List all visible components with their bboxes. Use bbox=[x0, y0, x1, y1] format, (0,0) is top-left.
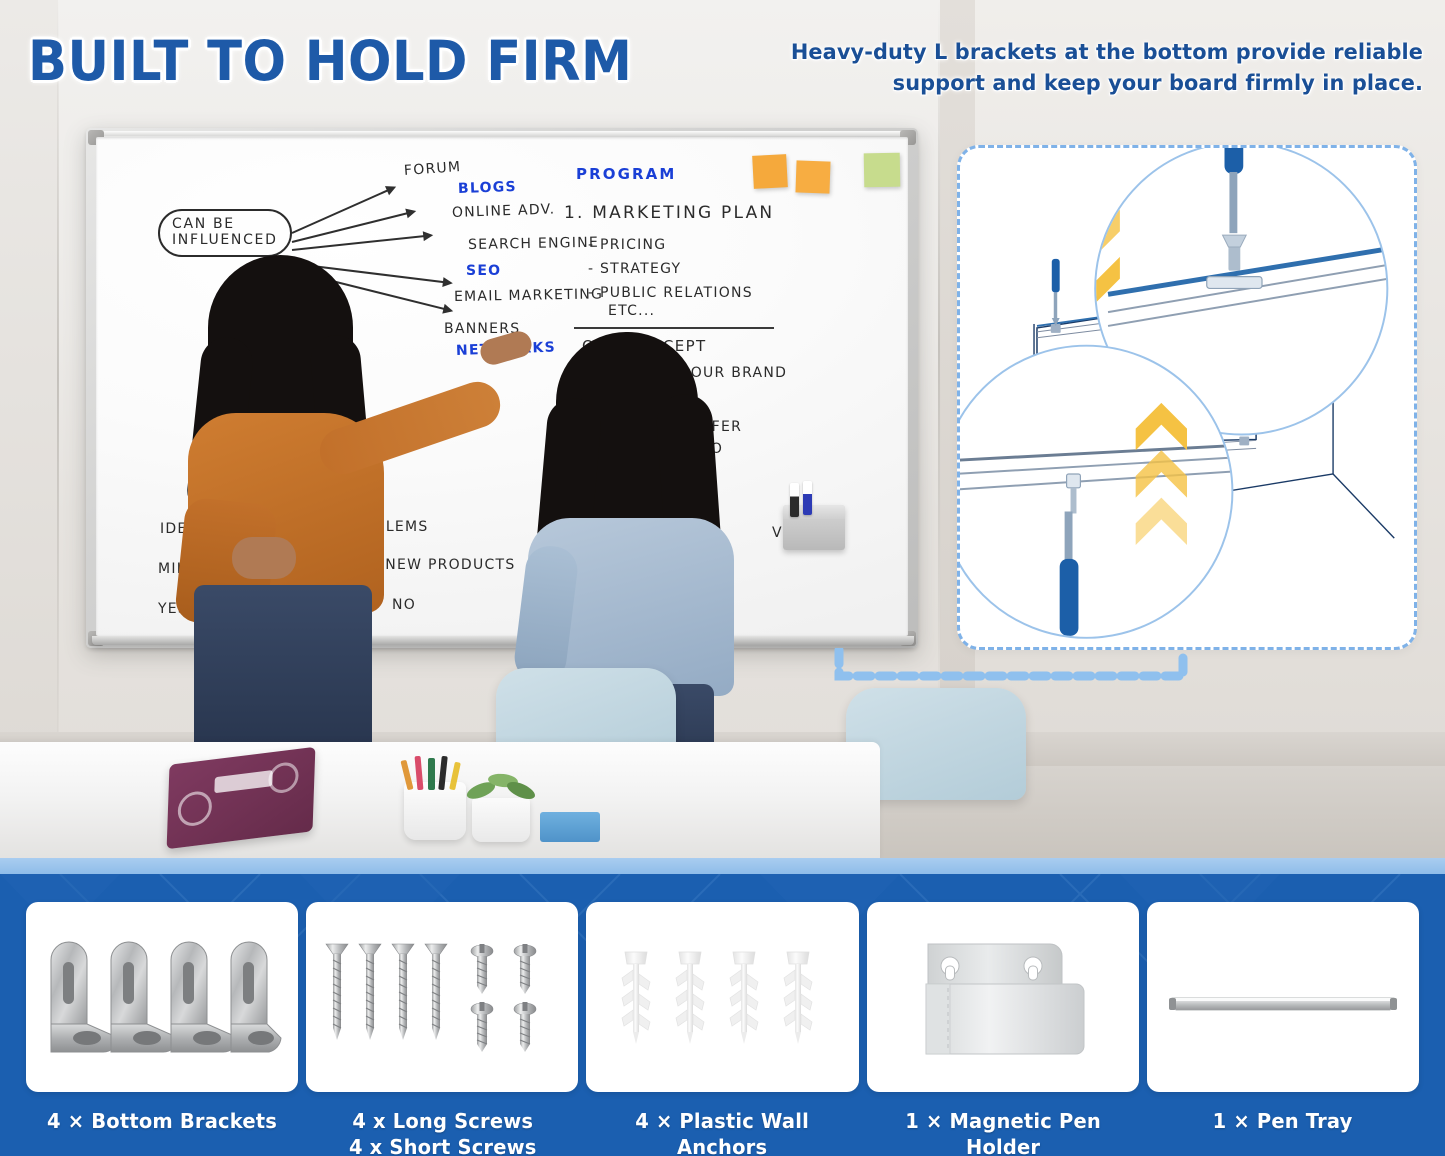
part-label-pen-holder: 1 × Magnetic Pen Holder bbox=[873, 1108, 1132, 1156]
pen-pink bbox=[415, 756, 424, 790]
handwriting-bullet-etc: ETC... bbox=[608, 303, 655, 319]
infographic-page: CAN BE INFLUENCED FORUM BLOGS ONLINE ADV… bbox=[0, 0, 1445, 1156]
handwriting-item-online-adv: ONLINE ADV. bbox=[452, 201, 556, 221]
handwriting-item-search-engine: SEARCH ENGINE bbox=[468, 235, 599, 253]
laptop-sticker-circle bbox=[177, 790, 212, 828]
part-wall-anchors[interactable]: 4 × Plastic Wall Anchors bbox=[586, 902, 858, 1156]
installation-diagram-svg bbox=[960, 148, 1414, 647]
part-image-bottom-brackets bbox=[26, 902, 298, 1092]
part-image-pen-tray bbox=[1147, 902, 1419, 1092]
handwriting-item-email-marketing: EMAIL MARKETING bbox=[454, 286, 603, 305]
hero-photo: CAN BE INFLUENCED FORUM BLOGS ONLINE ADV… bbox=[0, 0, 1445, 858]
handwriting-marketing-plan: 1. MARKETING PLAN bbox=[564, 203, 774, 223]
handwriting-program-title: PROGRAM bbox=[576, 165, 676, 183]
sticky-note-orange-1 bbox=[752, 154, 788, 189]
handwriting-item-blogs: BLOGS bbox=[458, 179, 517, 197]
plant-leaves bbox=[462, 772, 542, 806]
part-label-pen-tray: 1 × Pen Tray bbox=[1213, 1108, 1353, 1134]
handwriting-boxed-label: CAN BE INFLUENCED bbox=[158, 209, 292, 257]
pen-black bbox=[438, 756, 448, 790]
person-left-hand-2 bbox=[232, 537, 296, 579]
pen-orange bbox=[400, 760, 413, 791]
wall-left-panel bbox=[0, 0, 58, 760]
wall-seam-left bbox=[57, 0, 59, 760]
banner-top-strip bbox=[0, 858, 1445, 874]
leaf-3 bbox=[505, 778, 538, 802]
handwriting-bullet-public-relations: - PUBLIC RELATIONS bbox=[588, 285, 753, 301]
handwriting-bullet-strategy: - STRATEGY bbox=[588, 261, 681, 277]
handwriting-bullet-pricing: - PRICING bbox=[588, 237, 666, 253]
board-magnetic-pen-holder bbox=[783, 505, 845, 550]
laptop-sticker-circle-2 bbox=[268, 761, 299, 795]
part-label-bottom-brackets: 4 × Bottom Brackets bbox=[47, 1108, 277, 1134]
part-pen-tray[interactable]: 1 × Pen Tray bbox=[1147, 902, 1419, 1156]
part-image-wall-anchors bbox=[586, 902, 858, 1092]
part-label-wall-anchors: 4 × Plastic Wall Anchors bbox=[593, 1108, 852, 1156]
screwdriver-small bbox=[1052, 259, 1060, 326]
person-left bbox=[170, 255, 430, 775]
marker-black bbox=[790, 483, 799, 517]
pen-tray-icon bbox=[1158, 922, 1408, 1072]
chevron-down-group bbox=[1069, 162, 1120, 304]
handwriting-item-forum: FORUM bbox=[403, 159, 461, 179]
part-screws[interactable]: 4 x Long Screws 4 x Short Screws bbox=[306, 902, 578, 1156]
part-label-screws: 4 x Long Screws 4 x Short Screws bbox=[348, 1108, 536, 1156]
parts-list: 4 × Bottom Brackets bbox=[0, 902, 1445, 1156]
part-bottom-brackets[interactable]: 4 × Bottom Brackets bbox=[26, 902, 298, 1156]
pen-yellow bbox=[449, 762, 461, 791]
part-image-screws bbox=[306, 902, 578, 1092]
parts-banner: 4 × Bottom Brackets bbox=[0, 858, 1445, 1156]
blue-folder bbox=[540, 812, 600, 842]
sticky-note-green bbox=[864, 153, 901, 188]
screw-icon bbox=[317, 922, 567, 1072]
part-image-pen-holder bbox=[867, 902, 1139, 1092]
pen-cup bbox=[404, 782, 466, 840]
wall-anchor-icon bbox=[598, 922, 848, 1072]
handwriting-item-seo: SEO bbox=[466, 263, 501, 279]
part-magnetic-pen-holder[interactable]: 1 × Magnetic Pen Holder bbox=[867, 902, 1139, 1156]
marker-blue bbox=[803, 481, 812, 515]
pen-holder-icon bbox=[878, 922, 1128, 1072]
page-headline: BUILT TO HOLD FIRM bbox=[28, 34, 632, 89]
l-bracket-icon bbox=[37, 922, 287, 1072]
handwriting-divider-rule bbox=[574, 327, 774, 329]
pen-green bbox=[428, 758, 435, 790]
page-subheadline: Heavy-duty L brackets at the bottom prov… bbox=[725, 38, 1423, 99]
laptop-sticker-label bbox=[214, 770, 273, 793]
sticky-note-orange-2 bbox=[795, 160, 830, 193]
diagram-connector bbox=[833, 648, 1189, 682]
arrow-to-forum bbox=[292, 187, 395, 234]
installation-diagram-panel bbox=[957, 145, 1417, 650]
